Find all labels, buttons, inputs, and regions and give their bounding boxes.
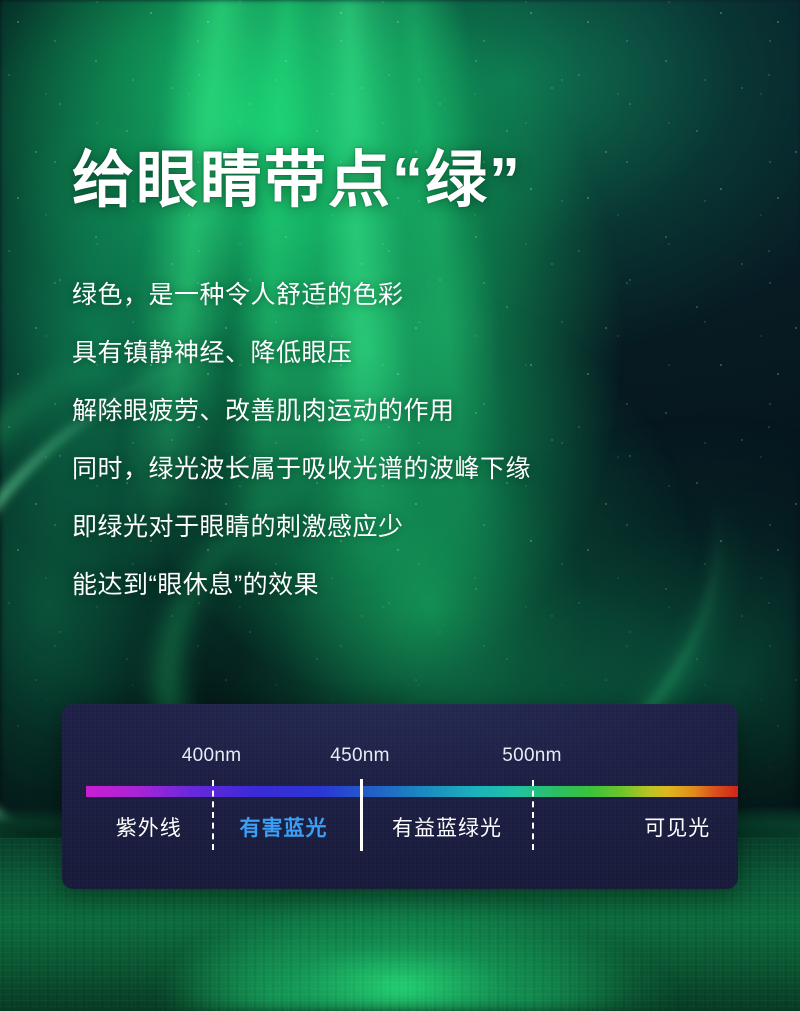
spectrum-gradient-bar	[86, 786, 738, 797]
spectrum-card: 400nm450nm500nm 紫外线有害蓝光有益蓝绿光可见光	[62, 704, 738, 889]
wavelength-tick-marker	[212, 780, 214, 850]
body-line: 绿色，是一种令人舒适的色彩	[72, 283, 712, 308]
poster-root: 给眼睛带点“绿” 绿色，是一种令人舒适的色彩具有镇静神经、降低眼压解除眼疲劳、改…	[0, 0, 800, 1011]
page-title: 给眼睛带点“绿”	[72, 148, 522, 213]
wavelength-label: 450nm	[330, 745, 390, 767]
body-copy: 绿色，是一种令人舒适的色彩具有镇静神经、降低眼压解除眼疲劳、改善肌肉运动的作用同…	[72, 283, 712, 631]
content-layer: 给眼睛带点“绿” 绿色，是一种令人舒适的色彩具有镇静神经、降低眼压解除眼疲劳、改…	[0, 0, 800, 1011]
body-line: 即绿光对于眼睛的刺激感应少	[72, 515, 712, 540]
body-line: 能达到“眼休息”的效果	[72, 573, 712, 598]
spectrum-zone-label-row: 紫外线有害蓝光有益蓝绿光可见光	[62, 812, 738, 846]
spectrum-zone-label: 有害蓝光	[240, 812, 328, 842]
body-line: 具有镇静神经、降低眼压	[72, 341, 712, 366]
spectrum-bar-wrapper	[86, 786, 738, 797]
spectrum-zone-label: 有益蓝绿光	[392, 812, 502, 842]
body-line: 解除眼疲劳、改善肌肉运动的作用	[72, 399, 712, 424]
spectrum-zone-label: 紫外线	[116, 812, 182, 842]
body-line: 同时，绿光波长属于吸收光谱的波峰下缘	[72, 457, 712, 482]
wavelength-label: 500nm	[502, 745, 562, 767]
wavelength-tick-marker	[532, 780, 534, 850]
spectrum-zone-label: 可见光	[644, 812, 710, 842]
wavelength-label: 400nm	[182, 745, 242, 767]
wavelength-tick-marker	[360, 779, 363, 851]
wavelength-label-row: 400nm450nm500nm	[62, 745, 738, 769]
